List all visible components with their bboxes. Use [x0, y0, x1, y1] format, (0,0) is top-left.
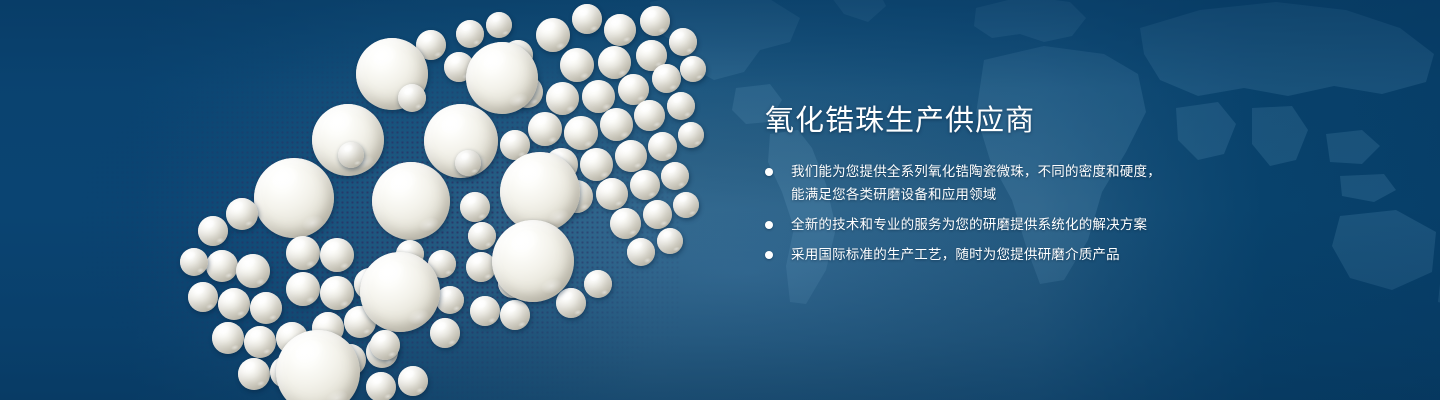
bullet-dot-icon [765, 168, 773, 176]
background-gradient-vertical [0, 0, 1440, 400]
bullet-dot-icon [765, 251, 773, 259]
list-item: 采用国际标准的生产工艺，随时为您提供研磨介质产品 [763, 243, 1223, 266]
list-item: 全新的技术和专业的服务为您的研磨提供系统化的解决方案 [763, 213, 1223, 236]
list-item-line-1: 我们能为您提供全系列氧化锆陶瓷微珠，不同的密度和硬度， [791, 160, 1223, 183]
banner-text-block: 氧化锆珠生产供应商 我们能为您提供全系列氧化锆陶瓷微珠，不同的密度和硬度， 能满… [763, 104, 1223, 273]
list-item: 我们能为您提供全系列氧化锆陶瓷微珠，不同的密度和硬度， 能满足您各类研磨设备和应… [763, 160, 1223, 206]
list-item-line-1: 采用国际标准的生产工艺，随时为您提供研磨介质产品 [791, 243, 1223, 266]
hero-banner: 氧化锆珠生产供应商 我们能为您提供全系列氧化锆陶瓷微珠，不同的密度和硬度， 能满… [0, 0, 1440, 400]
list-item-line-2: 能满足您各类研磨设备和应用领域 [791, 183, 1223, 206]
page-title: 氧化锆珠生产供应商 [765, 104, 1223, 138]
bullet-dot-icon [765, 221, 773, 229]
feature-list: 我们能为您提供全系列氧化锆陶瓷微珠，不同的密度和硬度， 能满足您各类研磨设备和应… [763, 160, 1223, 266]
list-item-line-1: 全新的技术和专业的服务为您的研磨提供系统化的解决方案 [791, 213, 1223, 236]
